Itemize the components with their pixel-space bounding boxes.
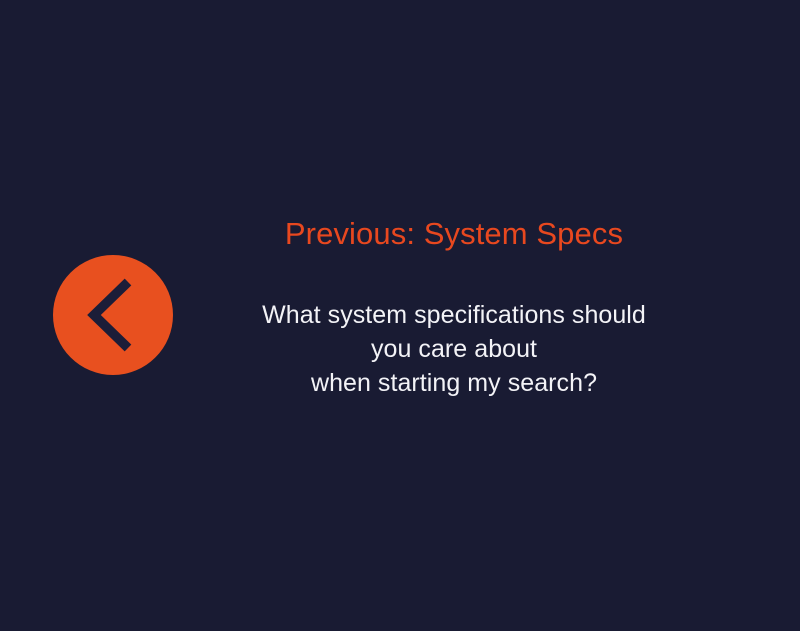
question-line: What system specifications should [224, 298, 684, 332]
previous-slide-button[interactable] [53, 255, 173, 375]
question-line: when starting my search? [224, 366, 684, 400]
question-text: What system specifications should you ca… [224, 254, 684, 400]
page-title: Previous: System Specs [224, 214, 684, 254]
slide-canvas: Previous: System Specs What system speci… [0, 0, 800, 631]
text-content: Previous: System Specs What system speci… [224, 214, 684, 400]
chevron-left-icon [87, 277, 139, 353]
question-line: you care about [224, 332, 684, 366]
